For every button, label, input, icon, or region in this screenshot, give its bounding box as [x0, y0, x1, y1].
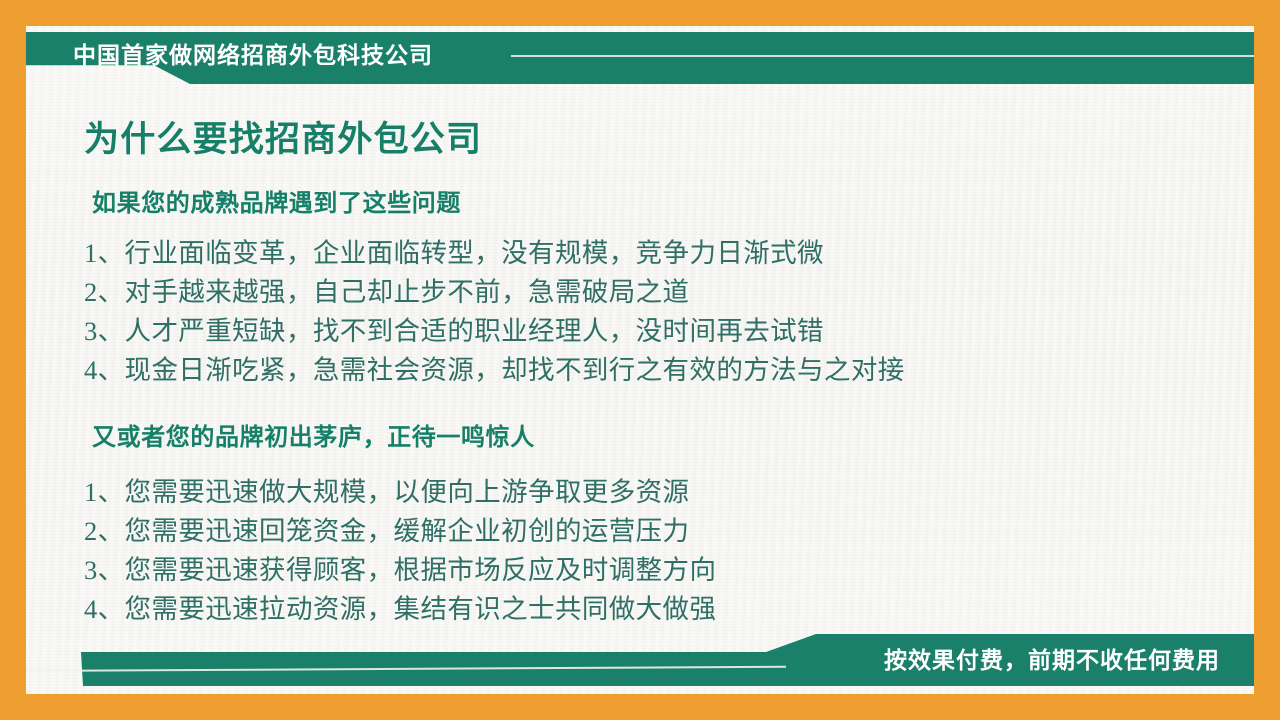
- list-item: 3、您需要迅速获得顾客，根据市场反应及时调整方向: [84, 551, 716, 590]
- header-banner: 中国首家做网络招商外包科技公司: [26, 26, 1254, 92]
- list-item: 1、您需要迅速做大规模，以便向上游争取更多资源: [84, 473, 716, 512]
- slide-canvas: 中国首家做网络招商外包科技公司 为什么要找招商外包公司 如果您的成熟品牌遇到了这…: [0, 0, 1280, 720]
- section-heading-startup: 又或者您的品牌初出茅庐，正待一鸣惊人: [92, 421, 535, 455]
- section-heading-problems: 如果您的成熟品牌遇到了这些问题: [92, 187, 461, 221]
- list-item: 1、行业面临变革，企业面临转型，没有规模，竞争力日渐式微: [84, 234, 905, 273]
- list-item: 4、您需要迅速拉动资源，集结有识之士共同做大做强: [84, 590, 716, 629]
- footer-banner: 按效果付费，前期不收任何费用: [26, 634, 1254, 694]
- header-tagline: 中国首家做网络招商外包科技公司: [73, 38, 433, 72]
- page-title: 为什么要找招商外包公司: [84, 117, 482, 163]
- list-item: 2、您需要迅速回笼资金，缓解企业初创的运营压力: [84, 512, 716, 551]
- startup-need-list: 1、您需要迅速做大规模，以便向上游争取更多资源 2、您需要迅速回笼资金，缓解企业…: [84, 473, 716, 629]
- list-item: 3、人才严重短缺，找不到合适的职业经理人，没时间再去试错: [84, 312, 905, 351]
- footer-slogan: 按效果付费，前期不收任何费用: [884, 643, 1220, 677]
- problem-list: 1、行业面临变革，企业面临转型，没有规模，竞争力日渐式微 2、对手越来越强，自己…: [84, 234, 905, 390]
- header-banner-rule: [511, 55, 1254, 57]
- list-item: 4、现金日渐吃紧，急需社会资源，却找不到行之有效的方法与之对接: [84, 351, 905, 390]
- list-item: 2、对手越来越强，自己却止步不前，急需破局之道: [84, 273, 905, 312]
